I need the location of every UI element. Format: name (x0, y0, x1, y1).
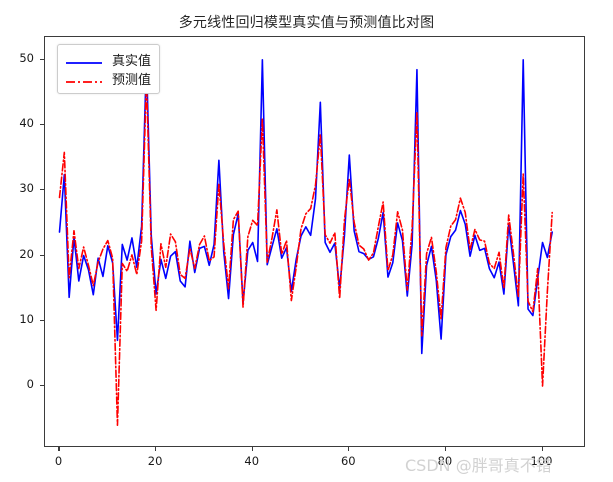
page-title: 多元线性回归模型真实值与预测值比对图 (0, 12, 613, 32)
plot-area (44, 36, 585, 447)
y-tick-label: 0 (0, 377, 34, 391)
x-tick-mark (155, 447, 156, 451)
y-tick-label: 20 (0, 247, 34, 261)
legend-item: 预测值 (65, 69, 151, 88)
series-line (59, 79, 552, 425)
y-tick-label: 30 (0, 181, 34, 195)
x-tick-mark (348, 447, 349, 451)
y-tick-mark (40, 59, 44, 60)
x-tick-mark (58, 447, 59, 451)
x-tick-label: 100 (522, 454, 562, 468)
x-tick-label: 40 (232, 454, 272, 468)
legend-item: 真实值 (65, 50, 151, 69)
x-tick-label: 20 (135, 454, 175, 468)
x-tick-mark (252, 447, 253, 451)
x-tick-label: 60 (328, 454, 368, 468)
chart-figure: 多元线性回归模型真实值与预测值比对图 01020304050 020406080… (0, 0, 613, 482)
y-tick-mark (40, 385, 44, 386)
plot-svg (45, 37, 586, 448)
legend: 真实值预测值 (57, 44, 160, 94)
y-tick-label: 50 (0, 51, 34, 65)
x-tick-label: 80 (425, 454, 465, 468)
y-tick-label: 10 (0, 312, 34, 326)
x-tick-label: 0 (38, 454, 78, 468)
x-tick-mark (542, 447, 543, 451)
x-tick-mark (445, 447, 446, 451)
y-tick-mark (40, 189, 44, 190)
y-tick-label: 40 (0, 116, 34, 130)
y-tick-mark (40, 255, 44, 256)
legend-line-swatch (65, 73, 103, 85)
legend-line-swatch (65, 54, 103, 66)
series-line (59, 60, 552, 354)
y-tick-mark (40, 124, 44, 125)
y-tick-mark (40, 320, 44, 321)
legend-label: 真实值 (112, 50, 151, 69)
legend-label: 预测值 (112, 69, 151, 88)
